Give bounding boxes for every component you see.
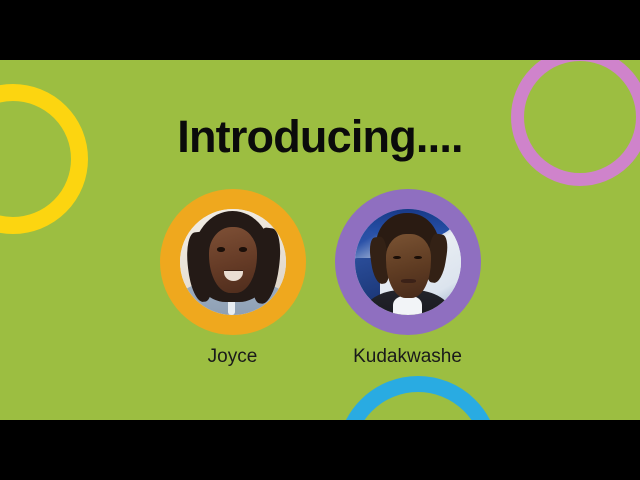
eye-left: [217, 247, 225, 251]
person-name-kudakwashe: Kudakwashe: [353, 347, 462, 366]
face-shape: [386, 234, 431, 298]
letterbox-bar-top: [0, 0, 640, 60]
eye-right: [239, 247, 247, 251]
avatar-photo-joyce: [180, 209, 286, 315]
person-card-joyce: Joyce: [153, 189, 313, 366]
letterbox-bar-bottom: [0, 420, 640, 480]
cyan-ring-decoration: [337, 376, 499, 420]
video-frame: Introducing....: [0, 0, 640, 480]
collar-shape: [393, 296, 423, 315]
person-name-joyce: Joyce: [208, 347, 258, 366]
mouth-shape: [401, 279, 416, 283]
presentation-slide: Introducing....: [0, 60, 640, 420]
avatar-ring-kudakwashe: [335, 189, 481, 335]
people-row: Joyce: [0, 189, 640, 366]
avatar-photo-kudakwashe: [355, 209, 461, 315]
person-card-kudakwashe: Kudakwashe: [328, 189, 488, 366]
slide-title: Introducing....: [0, 114, 640, 159]
avatar-ring-joyce: [160, 189, 306, 335]
face-shape: [209, 227, 257, 293]
